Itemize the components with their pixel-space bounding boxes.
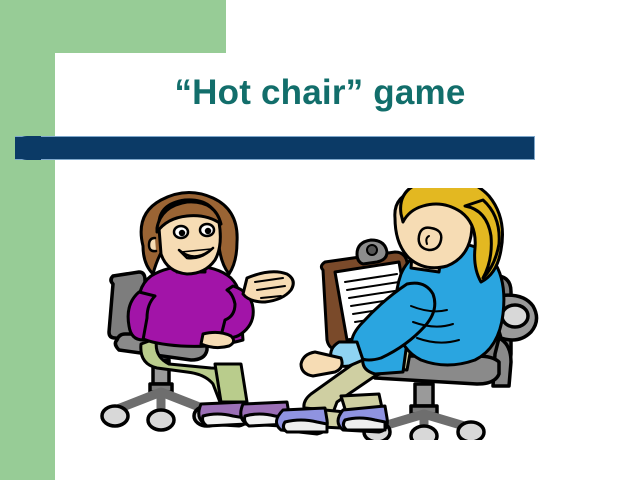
presentation-slide: “Hot chair” game [0,0,640,480]
green-side-strip [0,0,55,480]
man-figure [276,188,503,434]
navy-divider-bar [15,136,535,160]
slide-title: “Hot chair” game [60,72,580,114]
two-people-chairs-svg [95,188,545,440]
navy-divider-rounded-cap [15,136,41,160]
clipart-illustration [95,188,545,440]
